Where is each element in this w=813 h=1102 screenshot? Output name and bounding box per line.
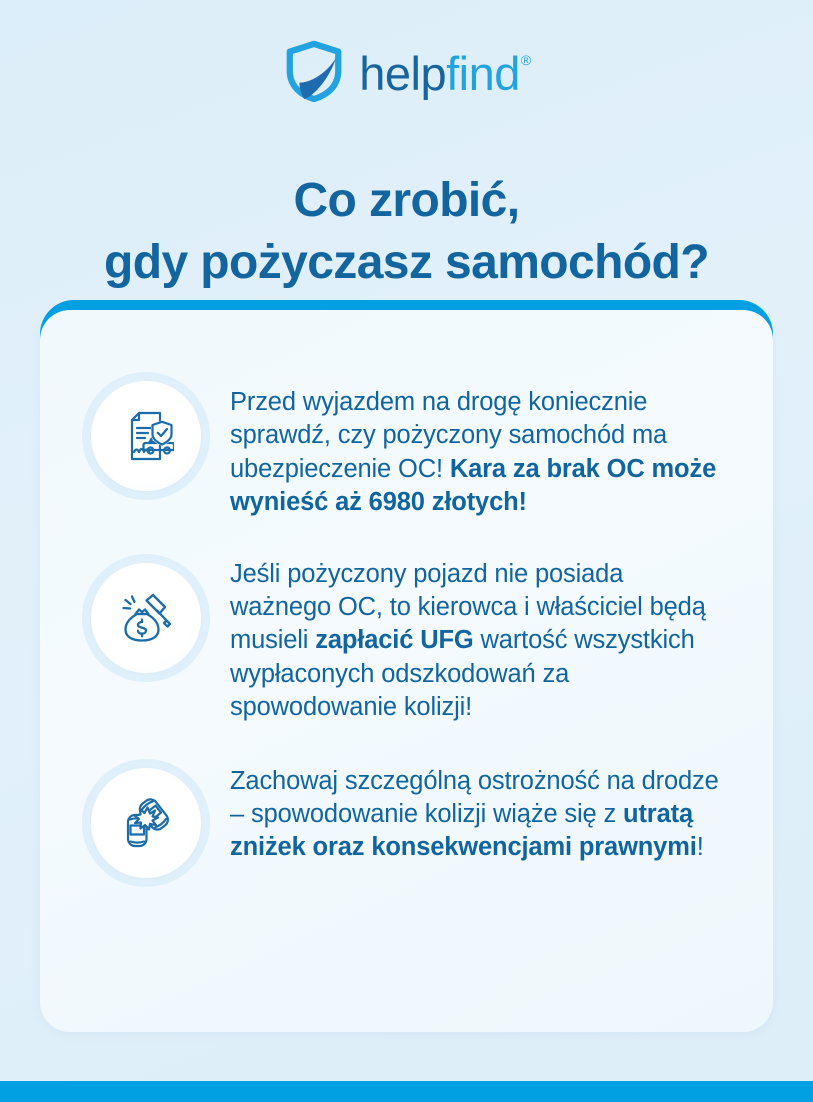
list-item: Jeśli pożyczony pojazd nie posiada ważne… xyxy=(82,554,731,725)
icon-disc xyxy=(91,381,201,491)
infographic-poster: helpfind® Co zrobić, gdy pożyczasz samoc… xyxy=(0,0,813,1102)
list-item-text: Zachowaj szczególną ostrożność na drodze… xyxy=(230,759,731,865)
gavel-money-bag-icon xyxy=(119,591,173,645)
insurance-document-car-icon xyxy=(118,408,174,464)
icon-container xyxy=(82,372,210,500)
brand-logo[interactable]: helpfind® xyxy=(0,38,813,104)
list-item: Zachowaj szczególną ostrożność na drodze… xyxy=(82,759,731,887)
registered-trademark-icon: ® xyxy=(521,52,531,68)
brand-wordmark: helpfind® xyxy=(359,50,529,97)
text-plain-3b: ! xyxy=(697,833,704,861)
wordmark-find: find xyxy=(446,47,520,100)
icon-container xyxy=(82,759,210,887)
shield-check-logo-icon xyxy=(283,40,345,102)
icon-disc xyxy=(91,563,201,673)
page-title: Co zrobić, gdy pożyczasz samochód? xyxy=(0,170,813,293)
car-collision-icon xyxy=(118,795,174,851)
title-line-2: gdy pożyczasz samochód? xyxy=(0,232,813,293)
list-item-text: Jeśli pożyczony pojazd nie posiada ważne… xyxy=(230,554,731,725)
wordmark-help: help xyxy=(359,47,446,100)
list-item-text: Przed wyjazdem na drogę koniecznie spraw… xyxy=(230,372,731,520)
footer-accent-bar xyxy=(0,1081,813,1102)
text-bold-2: zapłacić UFG xyxy=(315,626,473,654)
icon-disc xyxy=(91,768,201,878)
title-line-1: Co zrobić, xyxy=(0,170,813,231)
list-item: Przed wyjazdem na drogę koniecznie spraw… xyxy=(82,372,731,520)
tips-list: Przed wyjazdem na drogę koniecznie spraw… xyxy=(40,310,773,1032)
icon-container xyxy=(82,554,210,682)
